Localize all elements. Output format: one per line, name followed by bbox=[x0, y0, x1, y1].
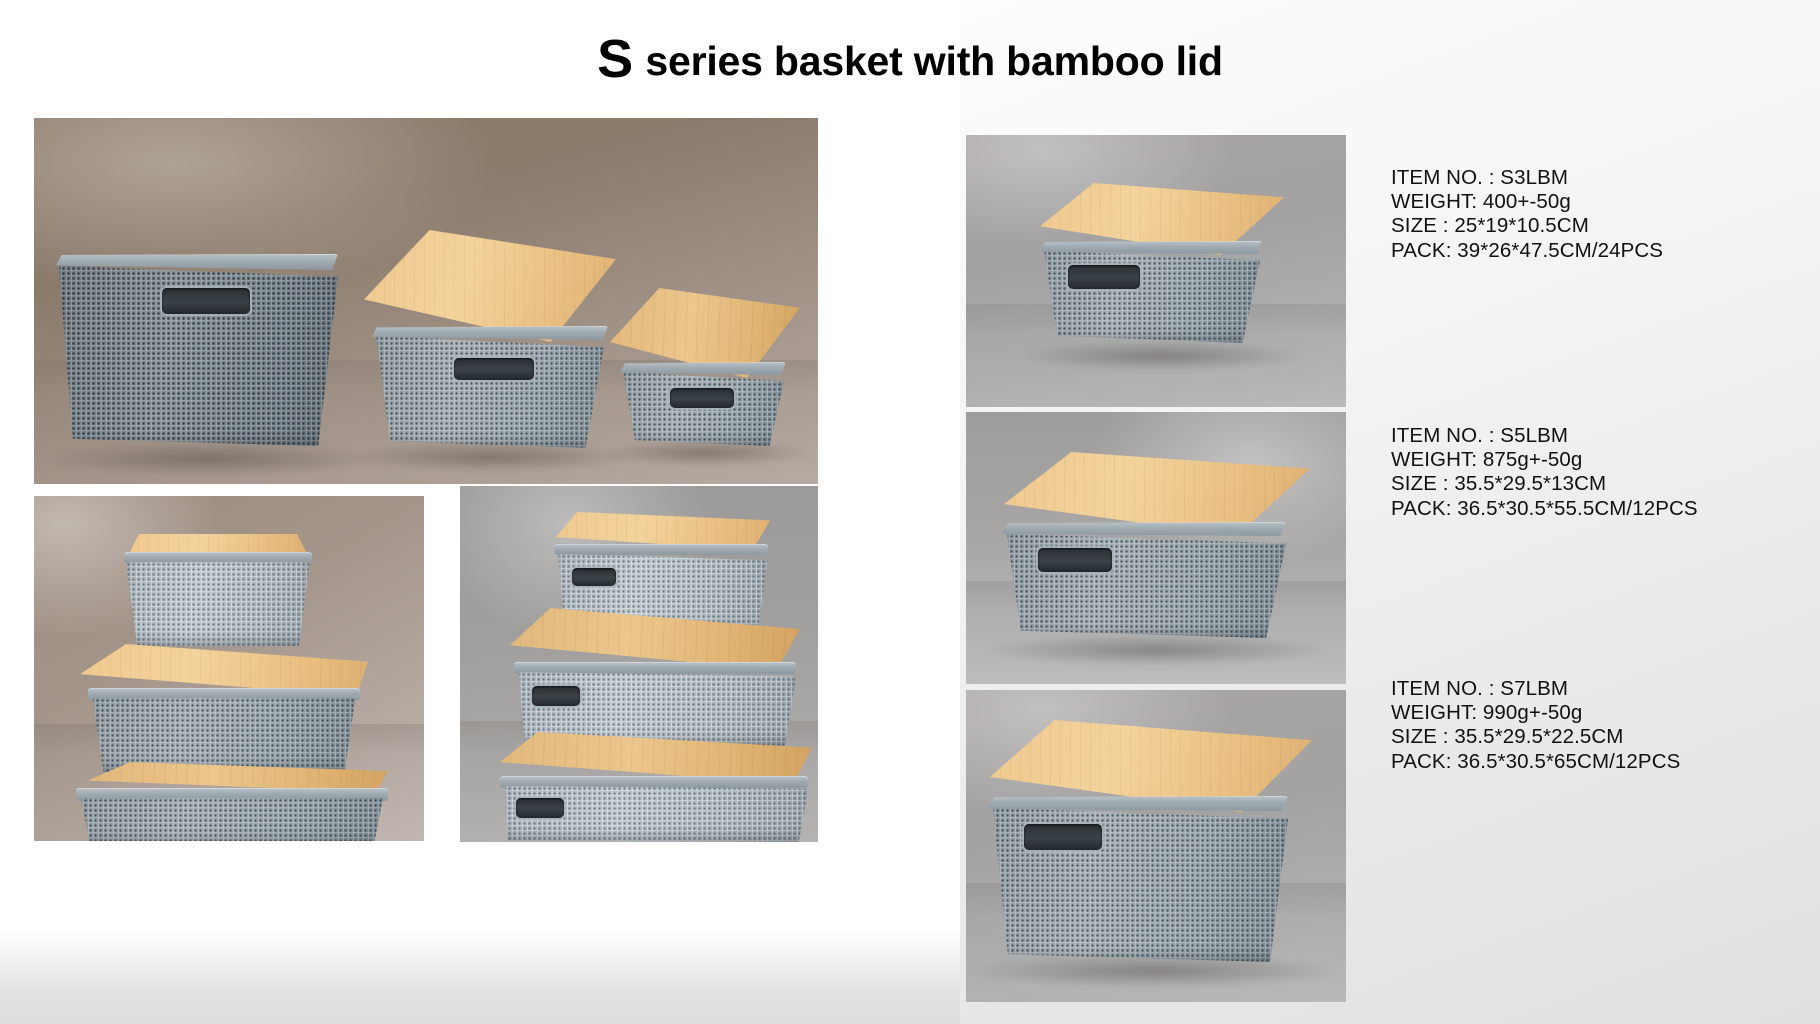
page-title: S series basket with bamboo lid bbox=[597, 38, 1223, 85]
spec-block-s7lbm: ITEM NO. : S7LBM WEIGHT: 990g+-50g SIZE … bbox=[1391, 677, 1680, 774]
s7lbm-cast-shadow bbox=[972, 954, 1338, 988]
s5lbm-collar bbox=[1002, 522, 1286, 536]
s3lbm-collar bbox=[1040, 241, 1262, 254]
hero-medium-body bbox=[374, 336, 604, 448]
page-title-rest: series basket with bamboo lid bbox=[634, 38, 1223, 84]
bm-basket-bottom bbox=[486, 732, 816, 842]
spec-block-s5lbm: ITEM NO. : S5LBM WEIGHT: 875g+-50g SIZE … bbox=[1391, 424, 1698, 521]
spec-s5lbm-weight: WEIGHT: 875g+-50g bbox=[1391, 448, 1698, 472]
bm-mid-lid bbox=[510, 608, 800, 670]
spec-s5lbm-pack: PACK: 36.5*30.5*55.5CM/12PCS bbox=[1391, 497, 1698, 521]
spec-s5lbm-size: SIZE : 35.5*29.5*13CM bbox=[1391, 472, 1698, 496]
page-title-lead: S bbox=[597, 29, 634, 89]
bm-bottom-handle bbox=[516, 798, 564, 818]
page-lower-gradient bbox=[0, 930, 1820, 1024]
bl-bottom-body bbox=[78, 798, 386, 841]
bm-top-handle bbox=[572, 568, 616, 586]
bottom-middle-photo bbox=[460, 486, 818, 842]
hero-medium-handle bbox=[454, 358, 534, 380]
spec-s7lbm-weight: WEIGHT: 990g+-50g bbox=[1391, 701, 1680, 725]
s5lbm-photo bbox=[966, 412, 1346, 684]
s3lbm-handle bbox=[1068, 265, 1140, 289]
s3lbm-basket bbox=[1026, 183, 1294, 363]
bm-mid-handle bbox=[532, 686, 580, 706]
spec-s3lbm-pack: PACK: 39*26*47.5CM/24PCS bbox=[1391, 239, 1663, 263]
bl-top-body bbox=[126, 562, 310, 646]
spec-s5lbm-item-no: ITEM NO. : S5LBM bbox=[1391, 424, 1698, 448]
s3lbm-cast-shadow bbox=[1022, 341, 1300, 371]
bm-mid-collar bbox=[514, 662, 796, 674]
bm-bottom-collar bbox=[500, 776, 808, 788]
hero-large-handle bbox=[162, 288, 250, 314]
hero-small-body bbox=[622, 372, 784, 446]
hero-basket-medium bbox=[356, 230, 621, 470]
s7lbm-collar bbox=[988, 796, 1288, 811]
page-title-wrap: S series basket with bamboo lid bbox=[0, 38, 1820, 85]
hero-small-handle bbox=[670, 388, 734, 408]
hero-medium-lid bbox=[364, 230, 616, 342]
spec-s7lbm-pack: PACK: 36.5*30.5*65CM/12PCS bbox=[1391, 750, 1680, 774]
s3lbm-photo bbox=[966, 135, 1346, 407]
bl-basket-middle bbox=[74, 644, 374, 772]
spec-block-s3lbm: ITEM NO. : S3LBM WEIGHT: 400+-50g SIZE :… bbox=[1391, 166, 1663, 263]
s7lbm-handle bbox=[1024, 824, 1102, 850]
s7lbm-photo bbox=[966, 690, 1346, 1002]
spec-s3lbm-size: SIZE : 25*19*10.5CM bbox=[1391, 214, 1663, 238]
bl-top-collar bbox=[124, 552, 312, 563]
spec-s7lbm-item-no: ITEM NO. : S7LBM bbox=[1391, 677, 1680, 701]
bm-basket-middle bbox=[504, 608, 806, 752]
bottom-left-photo bbox=[34, 496, 424, 841]
hero-small-cast-shadow bbox=[602, 440, 810, 466]
s7lbm-basket bbox=[980, 720, 1328, 982]
bl-basket-bottom bbox=[56, 762, 404, 841]
s5lbm-cast-shadow bbox=[984, 634, 1328, 666]
hero-small-collar bbox=[620, 362, 786, 375]
s5lbm-basket bbox=[990, 452, 1320, 658]
hero-medium-cast-shadow bbox=[352, 442, 630, 472]
hero-large-cast-shadow bbox=[44, 442, 374, 476]
hero-basket-large bbox=[50, 170, 355, 470]
spec-s3lbm-weight: WEIGHT: 400+-50g bbox=[1391, 190, 1663, 214]
spec-s3lbm-item-no: ITEM NO. : S3LBM bbox=[1391, 166, 1663, 190]
hero-basket-small bbox=[604, 288, 804, 468]
hero-large-lid bbox=[62, 170, 350, 266]
spec-s7lbm-size: SIZE : 35.5*29.5*22.5CM bbox=[1391, 725, 1680, 749]
bl-mid-body bbox=[90, 698, 358, 772]
bl-basket-top bbox=[118, 534, 318, 654]
s5lbm-handle bbox=[1038, 548, 1112, 572]
bm-top-collar bbox=[554, 544, 768, 555]
hero-photo bbox=[34, 118, 818, 484]
